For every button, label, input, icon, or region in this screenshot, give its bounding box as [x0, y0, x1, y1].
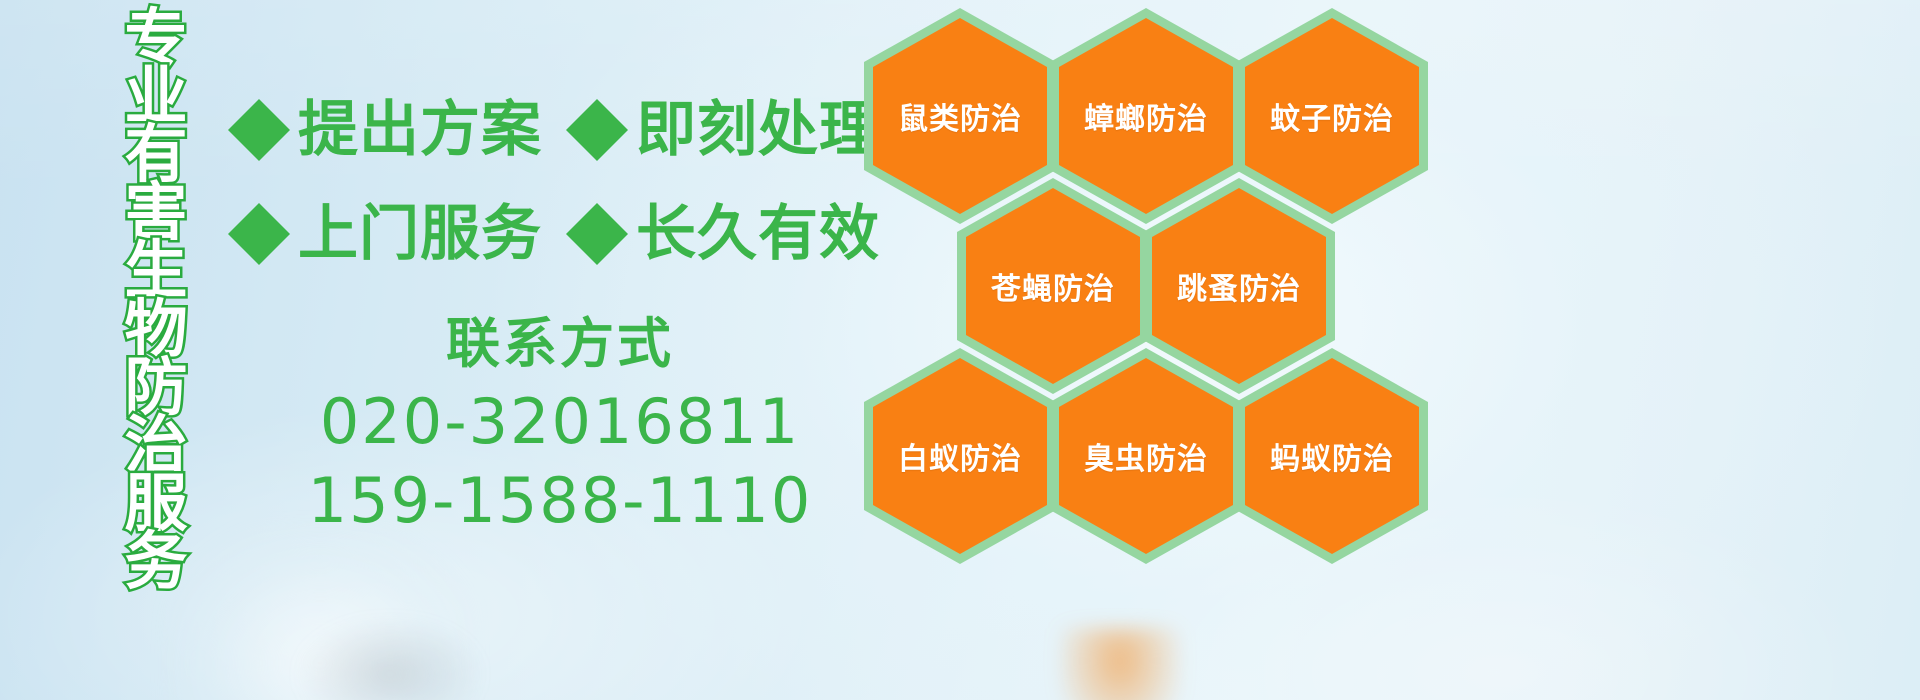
service-hex-label: 蚊子防治: [1270, 94, 1394, 138]
diamond-bullet-icon: [566, 68, 628, 130]
diamond-bullet-icon: [566, 172, 628, 234]
service-hex-label: 蟑螂防治: [1084, 94, 1208, 138]
service-hex-label: 鼠类防治: [898, 94, 1022, 138]
feature-item: 上门服务: [228, 203, 542, 265]
phone-number-mobile[interactable]: 159-1588-1110: [300, 461, 820, 540]
service-hex-flea[interactable]: 跳蚤防治: [1143, 178, 1335, 394]
vertical-headline: 专 业 有 害 生 物 防 治 服 务: [104, 8, 208, 568]
feature-label: 上门服务: [298, 204, 542, 264]
feature-label: 长久有效: [636, 204, 880, 264]
service-hex-ant[interactable]: 蚂蚁防治: [1236, 348, 1428, 564]
phone-number-landline[interactable]: 020-32016811: [300, 382, 820, 461]
service-hex-cockroach[interactable]: 蟑螂防治: [1050, 8, 1242, 224]
background-blur-gray: [300, 620, 480, 700]
feature-item: 提出方案: [228, 99, 542, 161]
service-hex-label: 臭虫防治: [1084, 434, 1208, 478]
diamond-bullet-icon: [228, 172, 290, 234]
feature-item: 长久有效: [566, 203, 880, 265]
feature-row: 上门服务 长久有效: [228, 182, 878, 286]
feature-list: 提出方案 即刻处理 上门服务 长久有效: [228, 78, 878, 286]
contact-heading: 联系方式: [300, 312, 820, 376]
service-hex-label: 跳蚤防治: [1177, 264, 1301, 308]
service-hex-label: 蚂蚁防治: [1270, 434, 1394, 478]
promo-banner: 专 业 有 害 生 物 防 治 服 务 提出方案 即刻处理 上门服务: [0, 0, 1920, 700]
feature-row: 提出方案 即刻处理: [228, 78, 878, 182]
service-honeycomb: 鼠类防治 蟑螂防治 蚊子防治 苍蝇防治 跳蚤防治 白蚁防治 臭虫防治 蚂蚁: [856, 0, 1456, 700]
service-hex-mosquito[interactable]: 蚊子防治: [1236, 8, 1428, 224]
service-hex-label: 苍蝇防治: [991, 264, 1115, 308]
feature-label: 提出方案: [298, 100, 542, 160]
diamond-bullet-icon: [228, 68, 290, 130]
contact-block: 联系方式 020-32016811 159-1588-1110: [300, 312, 820, 540]
service-hex-fly[interactable]: 苍蝇防治: [957, 178, 1149, 394]
service-hex-termite[interactable]: 白蚁防治: [864, 348, 1056, 564]
service-hex-label: 白蚁防治: [898, 434, 1022, 478]
feature-label: 即刻处理: [636, 100, 880, 160]
feature-item: 即刻处理: [566, 99, 880, 161]
vertical-headline-char: 务: [125, 531, 188, 592]
service-hex-bedbug[interactable]: 臭虫防治: [1050, 348, 1242, 564]
service-hex-rodent[interactable]: 鼠类防治: [864, 8, 1056, 224]
